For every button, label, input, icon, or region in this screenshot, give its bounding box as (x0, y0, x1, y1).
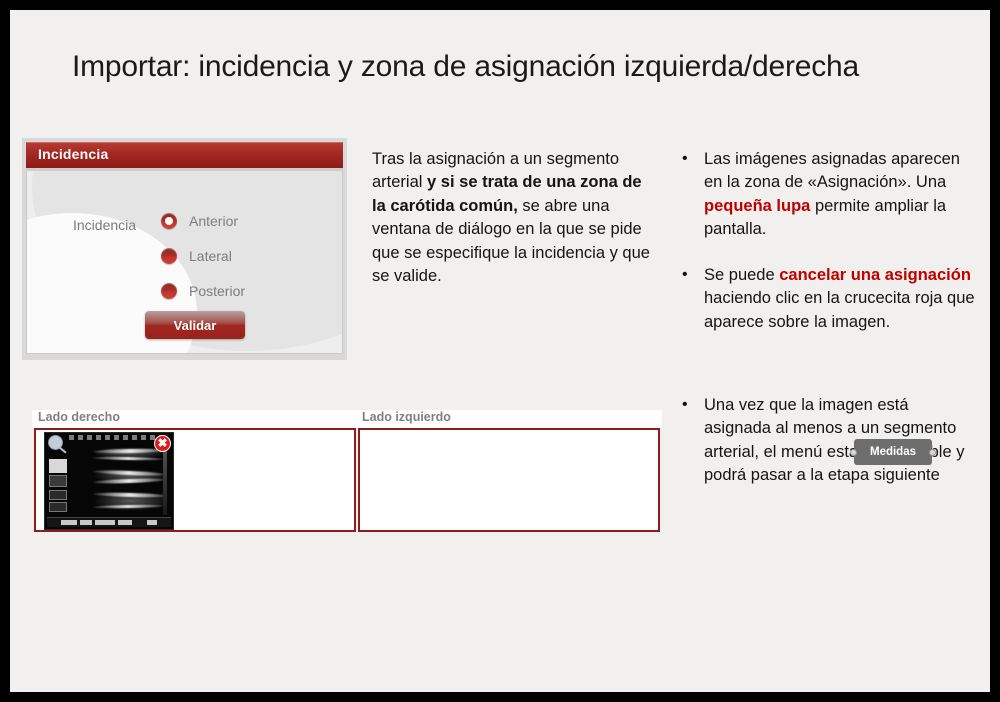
page-title: Importar: incidencia y zona de asignació… (72, 50, 932, 84)
validar-button[interactable]: Validar (145, 311, 245, 339)
ultrasound-header-text (69, 435, 161, 440)
radio-label-anterior: Anterior (189, 213, 238, 229)
column-header-lado-izquierdo: Lado izquierdo (362, 410, 451, 424)
bullet-list: • Las imágenes asignadas aparecen en la … (672, 148, 980, 488)
list-item: • Se puede cancelar una asignación hacie… (672, 264, 980, 334)
radio-option-lateral[interactable]: Lateral (161, 248, 232, 264)
slide-canvas: Importar: incidencia y zona de asignació… (10, 10, 990, 692)
list-item: • Una vez que la imagen está asignada al… (672, 394, 980, 488)
assignment-zone-headers: Lado derecho Lado izquierdo (32, 410, 662, 428)
assignment-zone: Lado derecho Lado izquierdo (32, 410, 662, 540)
medidas-menu-button[interactable]: Medidas (854, 439, 932, 465)
bullet-marker: • (682, 148, 688, 171)
ultrasound-bottom-toolbar (47, 517, 171, 527)
ultrasound-control-2 (49, 475, 67, 487)
dialog-titlebar: Incidencia (26, 142, 343, 168)
ultrasound-thumbnail[interactable]: ✖ (44, 432, 174, 530)
ultrasound-band-2 (93, 456, 163, 460)
bullet-text-part2: haciendo clic en la crucecita roja que a… (704, 289, 975, 330)
ultrasound-control-4 (49, 502, 67, 512)
resize-handle-left-icon[interactable] (850, 449, 857, 456)
ultrasound-control-3 (49, 490, 67, 500)
radio-indicator-posterior[interactable] (161, 283, 177, 299)
incidencia-field-label: Incidencia (73, 217, 136, 233)
magnifier-handle-icon (58, 446, 66, 453)
radio-indicator-lateral[interactable] (161, 248, 177, 264)
dialog-title-text: Incidencia (38, 146, 108, 162)
bullet-text-part1: Se puede (704, 266, 779, 284)
radio-indicator-anterior[interactable] (161, 213, 177, 229)
list-item: • Las imágenes asignadas aparecen en la … (672, 148, 980, 242)
ultrasound-control-1 (49, 459, 67, 473)
bullet-emphasis: pequeña lupa (704, 197, 810, 215)
bullet-marker: • (682, 264, 688, 287)
delete-assignment-icon[interactable]: ✖ (154, 435, 171, 452)
incidencia-dialog: Incidencia Incidencia Anterior Lateral P… (22, 138, 347, 360)
radio-label-lateral: Lateral (189, 248, 232, 264)
medidas-button-label: Medidas (870, 446, 916, 458)
column-header-lado-derecho: Lado derecho (38, 410, 120, 424)
resize-handle-right-icon[interactable] (929, 449, 936, 456)
drop-zone-left[interactable] (358, 428, 660, 532)
middle-paragraph: Tras la asignación a un segmento arteria… (372, 148, 658, 289)
radio-option-anterior[interactable]: Anterior (161, 213, 238, 229)
drop-zone-right[interactable]: ✖ (34, 428, 356, 532)
dialog-body: Incidencia Anterior Lateral Posterior Va… (26, 171, 343, 354)
radio-label-posterior: Posterior (189, 283, 245, 299)
bullet-emphasis: cancelar una asignación (779, 266, 971, 284)
bullet-marker: • (682, 394, 688, 417)
magnifier-icon[interactable] (48, 435, 68, 455)
bullet-text-part1: Las imágenes asignadas aparecen en la zo… (704, 150, 960, 191)
radio-option-posterior[interactable]: Posterior (161, 283, 245, 299)
